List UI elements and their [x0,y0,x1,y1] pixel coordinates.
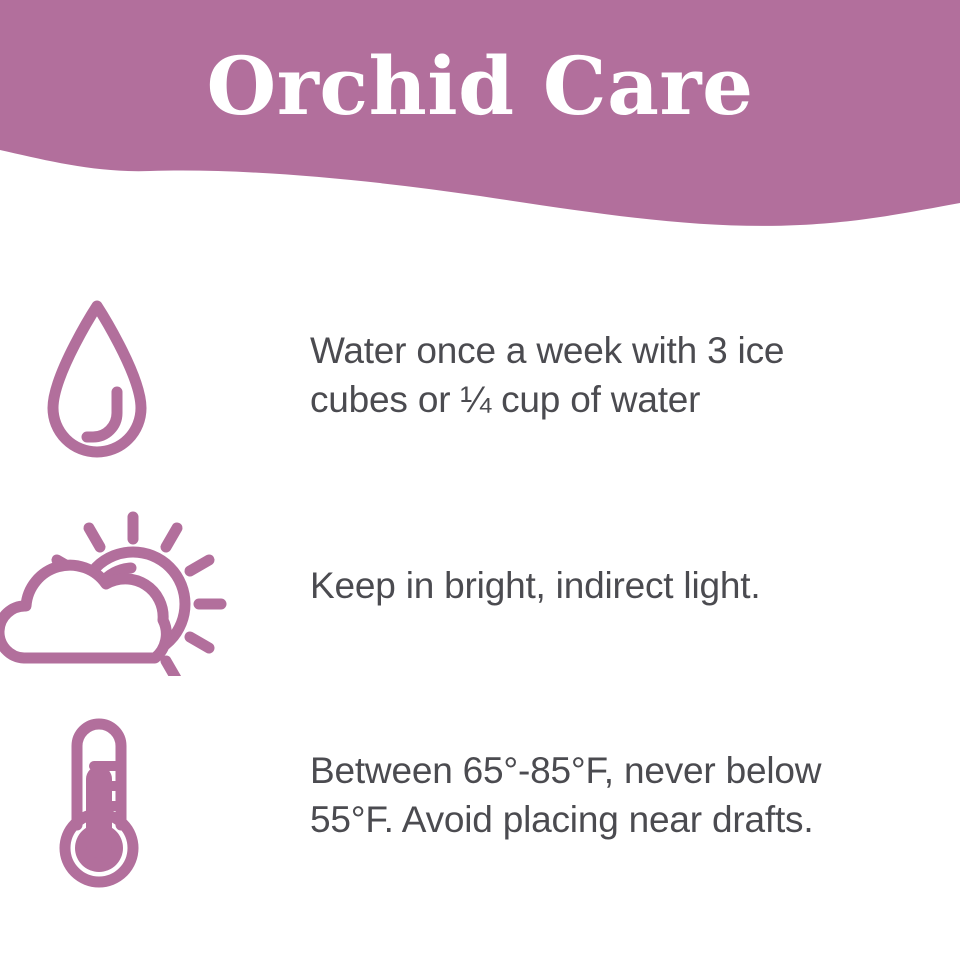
sun-ray-s [166,661,177,676]
care-tips-list: Water once a week with 3 ice cubes or ¼ … [0,270,960,900]
tip-icon-cell [0,480,310,690]
orchid-care-infographic: Orchid Care Water once a week with 3 ice… [0,0,960,960]
header-banner: Orchid Care [0,0,960,240]
water-drop-icon [37,292,157,472]
tip-icon-cell [0,690,310,900]
sun-behind-cloud-icon [0,506,300,676]
tip-icon-cell [0,270,310,480]
tip-text-light: Keep in bright, indirect light. [310,561,780,610]
sun-ray-ne [166,528,177,547]
sun-ray-e-upper [190,560,209,571]
sun-ray-se [190,637,209,648]
tip-row-light: Keep in bright, indirect light. [0,480,960,690]
page-title: Orchid Care [0,40,960,132]
tip-row-water: Water once a week with 3 ice cubes or ¼ … [0,270,960,480]
tip-text-temperature: Between 65°-85°F, never below 55°F. Avoi… [310,746,850,844]
tip-text-water: Water once a week with 3 ice cubes or ¼ … [310,326,850,424]
tip-row-temperature: Between 65°-85°F, never below 55°F. Avoi… [0,690,960,900]
thermometer-icon [44,713,154,893]
sun-ray-nw [89,528,100,547]
